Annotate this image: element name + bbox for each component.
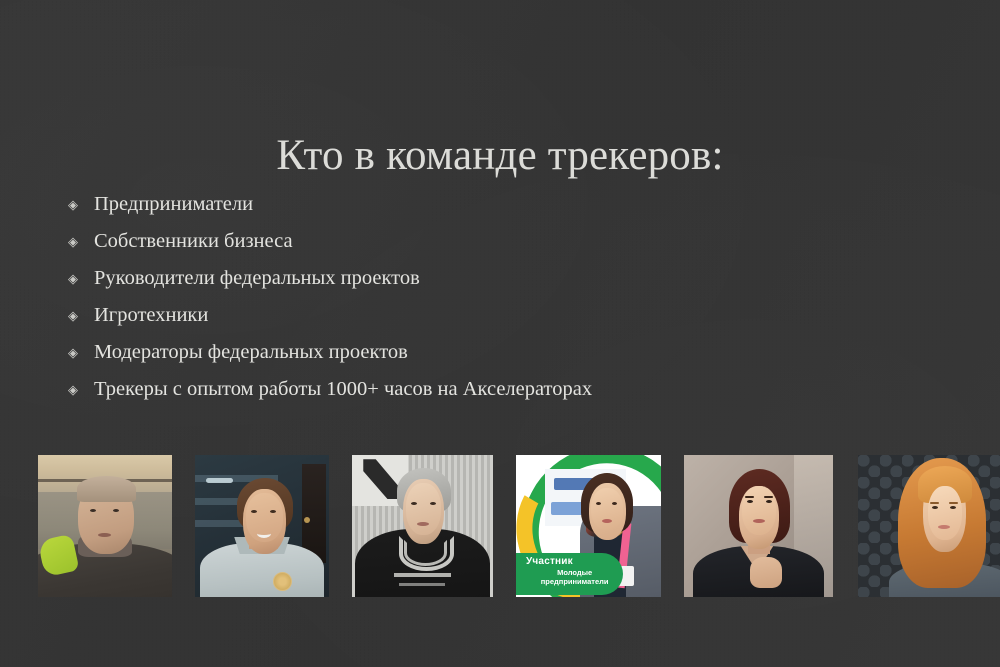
person-hand (750, 557, 783, 588)
person-smile (257, 529, 271, 538)
list-item: ◈ Собственники бизнеса (68, 223, 768, 260)
person-lips (753, 519, 765, 523)
page-title: Кто в команде трекеров: (0, 132, 1000, 179)
diamond-bullet-icon: ◈ (68, 346, 94, 359)
badge-subtitle-line-2: предприниматели (526, 577, 617, 586)
tshirt-print-line (394, 573, 450, 577)
participant-badge-banner: Участник Молодые предприниматели (516, 553, 623, 595)
list-item-label: Трекеры с опытом работы 1000+ часов на А… (94, 377, 592, 402)
person-eye-left (411, 502, 417, 505)
list-item-label: Собственники бизнеса (94, 229, 293, 254)
person-lips (417, 522, 429, 526)
person-brow-right (949, 502, 958, 504)
list-item: ◈ Модераторы федеральных проектов (68, 334, 768, 371)
team-photo (858, 455, 1000, 597)
list-item-label: Игротехники (94, 303, 208, 328)
person-eye-right (430, 502, 436, 505)
photo-light-glow (206, 478, 233, 483)
photo-artwork: Участник Молодые предприниматели (516, 455, 661, 597)
photo-artwork (195, 455, 329, 597)
list-item: ◈ Трекеры с опытом работы 1000+ часов на… (68, 371, 768, 408)
person-lips (602, 519, 612, 523)
team-photo (352, 455, 493, 597)
photo-artwork (38, 455, 172, 597)
person-face (742, 486, 776, 534)
photo-artwork (352, 455, 493, 597)
tshirt-print-line (399, 583, 446, 586)
poster-logo-secondary (551, 502, 583, 515)
diamond-bullet-icon: ◈ (68, 235, 94, 248)
team-photo (38, 455, 172, 597)
team-photo: Участник Молодые предприниматели (516, 455, 661, 597)
person-eye-left (596, 502, 601, 505)
diamond-bullet-icon: ◈ (68, 198, 94, 211)
presentation-slide: Кто в команде трекеров: ◈ Предпринимател… (0, 0, 1000, 667)
badge-title: Участник (526, 556, 617, 568)
person-brow-left (745, 496, 754, 498)
diamond-bullet-icon: ◈ (68, 272, 94, 285)
person-brow-right (764, 496, 773, 498)
person-face (406, 483, 441, 534)
person-face (928, 486, 962, 540)
photo-artwork (858, 455, 1000, 597)
person-lips (938, 525, 950, 529)
bullet-list: ◈ Предприниматели ◈ Собственники бизнеса… (68, 186, 768, 408)
person-eye-right (113, 509, 119, 512)
person-hair (77, 476, 136, 502)
list-item-label: Предприниматели (94, 192, 253, 217)
list-item: ◈ Руководители федеральных проектов (68, 260, 768, 297)
diamond-bullet-icon: ◈ (68, 383, 94, 396)
team-photo (195, 455, 329, 597)
diamond-bullet-icon: ◈ (68, 309, 94, 322)
person-chain-necklace-inner (404, 540, 447, 566)
team-photo (684, 455, 833, 597)
badge-subtitle-line-1: Молодые (526, 568, 617, 577)
photo-artwork (684, 455, 833, 597)
person-brow-left (930, 502, 939, 504)
list-item: ◈ Игротехники (68, 297, 768, 334)
list-item-label: Модераторы федеральных проектов (94, 340, 408, 365)
person-face (591, 488, 623, 531)
person-shirt-emblem (273, 572, 292, 591)
list-item: ◈ Предприниматели (68, 186, 768, 223)
person-eye-right (612, 502, 617, 505)
list-item-label: Руководители федеральных проектов (94, 266, 420, 291)
team-photo-strip: Участник Молодые предприниматели (0, 455, 1000, 597)
